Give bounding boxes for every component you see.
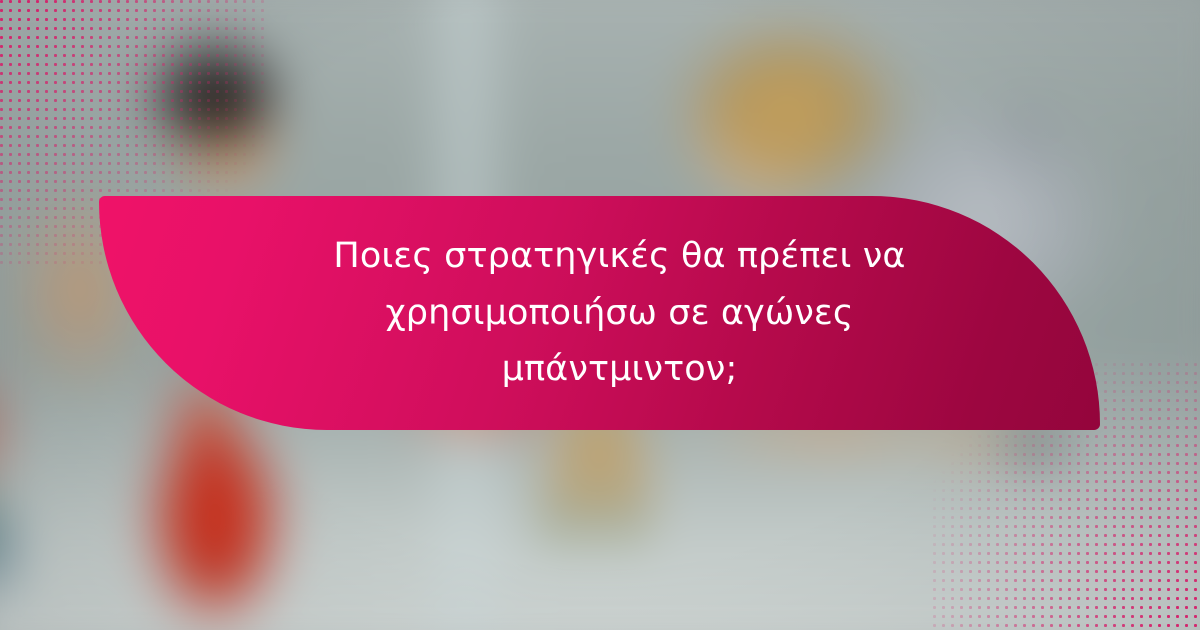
page-title: Ποιες στρατηγικές θα πρέπει να χρησιμοπο… (289, 228, 950, 398)
title-banner: Ποιες στρατηγικές θα πρέπει να χρησιμοπο… (99, 196, 1100, 430)
share-card-canvas: Ποιες στρατηγικές θα πρέπει να χρησιμοπο… (0, 0, 1200, 630)
